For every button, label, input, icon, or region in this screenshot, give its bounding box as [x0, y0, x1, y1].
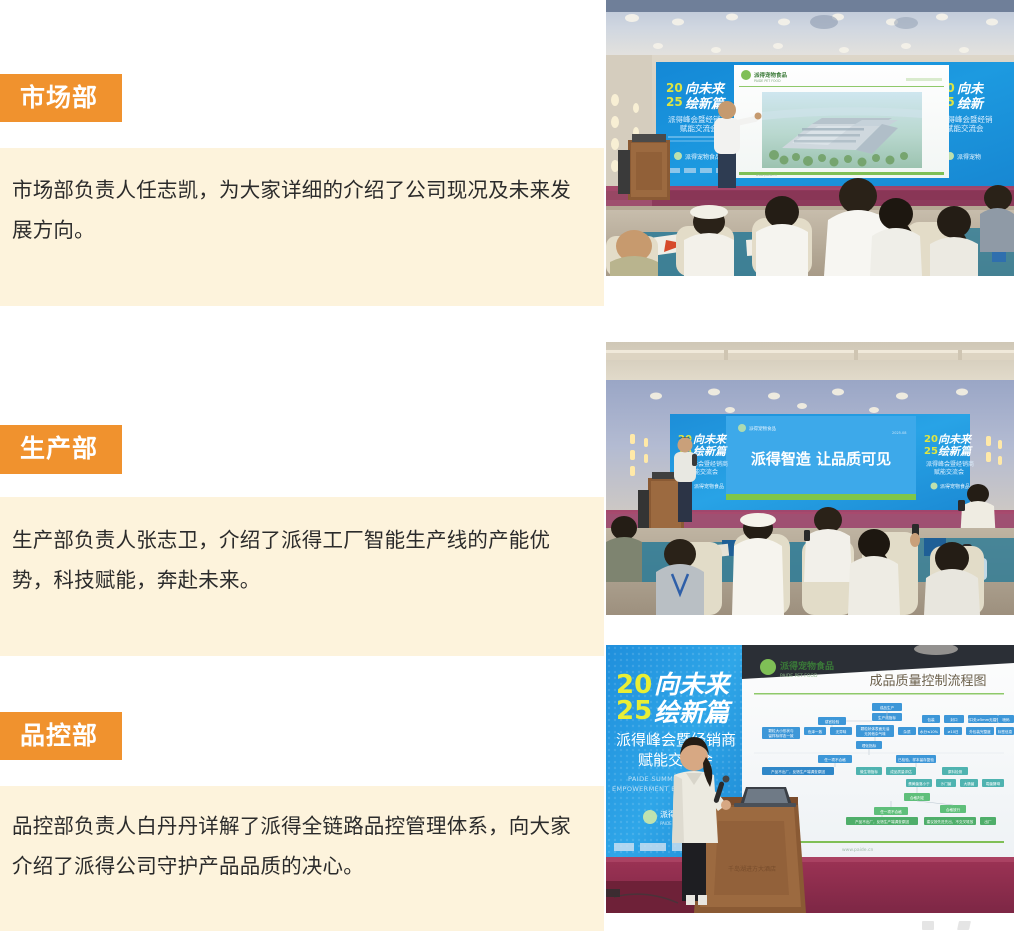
svg-text:无异味: 无异味	[836, 729, 847, 734]
photo-2-illustration: 派得宠物食品 派得智造 让品质可见 2025.08 20 25 向未来 绘新篇 …	[606, 342, 1014, 615]
svg-text:建议按先进先出，不交叉堆放: 建议按先进先出，不交叉堆放	[927, 819, 974, 824]
section-badge-quality-control-dept: 品控部	[0, 712, 122, 760]
svg-text:PAIDE PET FOOD: PAIDE PET FOOD	[780, 673, 818, 679]
svg-text:已检验，样本留存复验: 已检验，样本留存复验	[898, 757, 934, 762]
svg-text:派得峰会暨经销商: 派得峰会暨经销商	[926, 460, 974, 468]
svg-text:赋能交流会: 赋能交流会	[680, 123, 718, 133]
svg-text:派得宠物食品: 派得宠物食品	[685, 153, 721, 161]
section-badge-label: 市场部	[20, 86, 98, 111]
svg-text:赋能交流会: 赋能交流会	[934, 468, 964, 476]
svg-text:留样标样态一致: 留样标样态一致	[768, 733, 794, 738]
svg-text:杂质: 杂质	[903, 729, 911, 734]
svg-text:封口: 封口	[950, 717, 958, 722]
svg-text:www.paide.cn: www.paide.cn	[756, 173, 777, 177]
svg-text:感官检验: 感官检验	[825, 719, 840, 724]
svg-text:25: 25	[616, 696, 652, 726]
svg-text:大肠菌: 大肠菌	[964, 781, 975, 786]
svg-text:产品不出厂，反馈生产端调查原因: 产品不出厂，反馈生产端调查原因	[855, 819, 909, 824]
page-bottom-artifact	[606, 913, 1014, 931]
svg-text:产品不出厂，反馈生产端调查原因: 产品不出厂，反馈生产端调查原因	[771, 769, 825, 774]
svg-text:派得宠物: 派得宠物	[957, 153, 981, 161]
svg-text:www.paide.cn: www.paide.cn	[842, 847, 873, 853]
svg-text:成品质量评估: 成品质量评估	[890, 769, 912, 774]
section-badge-production-dept: 生产部	[0, 425, 122, 474]
svg-text:出厂: 出厂	[984, 819, 992, 824]
svg-text:喷码: 喷码	[1002, 717, 1010, 722]
artifact-mark-1	[922, 921, 934, 930]
market-dept-presentation-photo: 20 25 向未来 绘新篇 派得峰会暨经销商 赋能交流会 派得宠物食品 20 2…	[606, 0, 1014, 276]
svg-text:向未来: 向未来	[685, 81, 726, 97]
svg-text:PAIDE PET FOOD: PAIDE PET FOOD	[754, 79, 781, 83]
svg-text:派得宠物食品: 派得宠物食品	[940, 483, 970, 490]
svg-text:蛋黄菌落小于: 蛋黄菌落小于	[908, 781, 930, 786]
svg-text:派得宠物食品: 派得宠物食品	[694, 483, 724, 490]
svg-text:赋能交流会: 赋能交流会	[946, 123, 984, 133]
svg-text:派得宠物食品: 派得宠物食品	[749, 425, 776, 432]
section-paragraph-production-dept: 生产部负责人张志卫，介绍了派得工厂智能生产线的产能优势，科技赋能，奔赴未来。	[12, 520, 590, 600]
svg-text:绘新篇: 绘新篇	[938, 445, 973, 458]
svg-text:派得峰会暨经销商: 派得峰会暨经销商	[616, 731, 736, 749]
svg-text:绘新: 绘新	[957, 96, 985, 112]
section-badge-market-dept: 市场部	[0, 74, 122, 122]
photo-1-illustration: 20 25 向未来 绘新篇 派得峰会暨经销商 赋能交流会 派得宠物食品 20 2…	[606, 0, 1014, 276]
svg-text:派得宠物食品: 派得宠物食品	[754, 71, 788, 79]
svg-text:外包装完整度: 外包装完整度	[969, 729, 991, 734]
svg-text:向未: 向未	[957, 81, 984, 97]
svg-text:包装: 包装	[927, 717, 935, 722]
section-badge-label: 品控部	[20, 724, 98, 749]
section-badge-label: 生产部	[20, 437, 98, 462]
svg-text:标签信息: 标签信息	[998, 729, 1013, 734]
svg-text:≥10日: ≥10日	[947, 730, 958, 734]
quality-control-dept-presentation-photo: 20 25 向未来 绘新篇 派得峰会暨经销商 赋能交流会 PAIDE SUMMI…	[606, 645, 1014, 913]
svg-text:成品质量控制流程图: 成品质量控制流程图	[869, 674, 986, 689]
artifact-mark-2	[957, 921, 971, 930]
svg-text:无其他杂气味: 无其他杂气味	[864, 731, 886, 736]
photo-3-illustration: 20 25 向未来 绘新篇 派得峰会暨经销商 赋能交流会 PAIDE SUMMI…	[606, 645, 1014, 913]
svg-text:成品生产: 成品生产	[880, 705, 895, 710]
production-dept-presentation-photo: 派得宠物食品 派得智造 让品质可见 2025.08 20 25 向未来 绘新篇 …	[606, 342, 1014, 615]
article-page: 市场部 市场部负责人任志凯，为大家详细的介绍了公司现况及未来发展方向。 生产部 …	[0, 0, 1014, 931]
svg-text:向未来: 向未来	[654, 670, 732, 699]
svg-text:合格放行: 合格放行	[946, 807, 961, 812]
svg-text:25: 25	[924, 446, 938, 457]
svg-text:颗粒状体表面无油: 颗粒状体表面无油	[861, 726, 890, 731]
svg-text:理化指标: 理化指标	[862, 743, 877, 748]
svg-text:合格判定: 合格判定	[910, 795, 925, 800]
section-paragraph-quality-control-dept: 品控部负责人白丹丹详解了派得全链路品控管理体系，向大家介绍了派得公司守护产品品质…	[12, 806, 590, 886]
svg-text:绘新篇: 绘新篇	[693, 445, 728, 458]
svg-text:25: 25	[666, 95, 683, 109]
svg-text:20: 20	[666, 81, 683, 95]
svg-text:派得宠物食品: 派得宠物食品	[780, 660, 834, 672]
svg-text:任一项不合格: 任一项不合格	[824, 757, 846, 762]
svg-text:水分≤10%: 水分≤10%	[920, 729, 939, 734]
svg-text:微生物指标: 微生物指标	[860, 769, 878, 774]
svg-text:千岛湖进方大酒店: 千岛湖进方大酒店	[728, 865, 776, 873]
svg-text:霉菌酵母: 霉菌酵母	[986, 781, 1001, 786]
section-paragraph-market-dept: 市场部负责人任志凯，为大家详细的介绍了公司现况及未来发展方向。	[12, 170, 590, 250]
svg-text:沙门菌: 沙门菌	[941, 781, 952, 786]
svg-text:封口处≥5mm无褶皱: 封口处≥5mm无褶皱	[966, 717, 1000, 722]
svg-text:色泽一致: 色泽一致	[808, 729, 823, 734]
svg-text:任一项不合格: 任一项不合格	[880, 809, 902, 814]
svg-text:20: 20	[924, 434, 938, 445]
svg-text:派得智造 让品质可见: 派得智造 让品质可见	[751, 450, 891, 468]
svg-text:颗粒大小形状与: 颗粒大小形状与	[768, 728, 794, 733]
svg-text:2025.08: 2025.08	[892, 431, 906, 435]
svg-text:原料检测: 原料检测	[948, 769, 963, 774]
svg-text:绘新篇: 绘新篇	[654, 698, 733, 727]
